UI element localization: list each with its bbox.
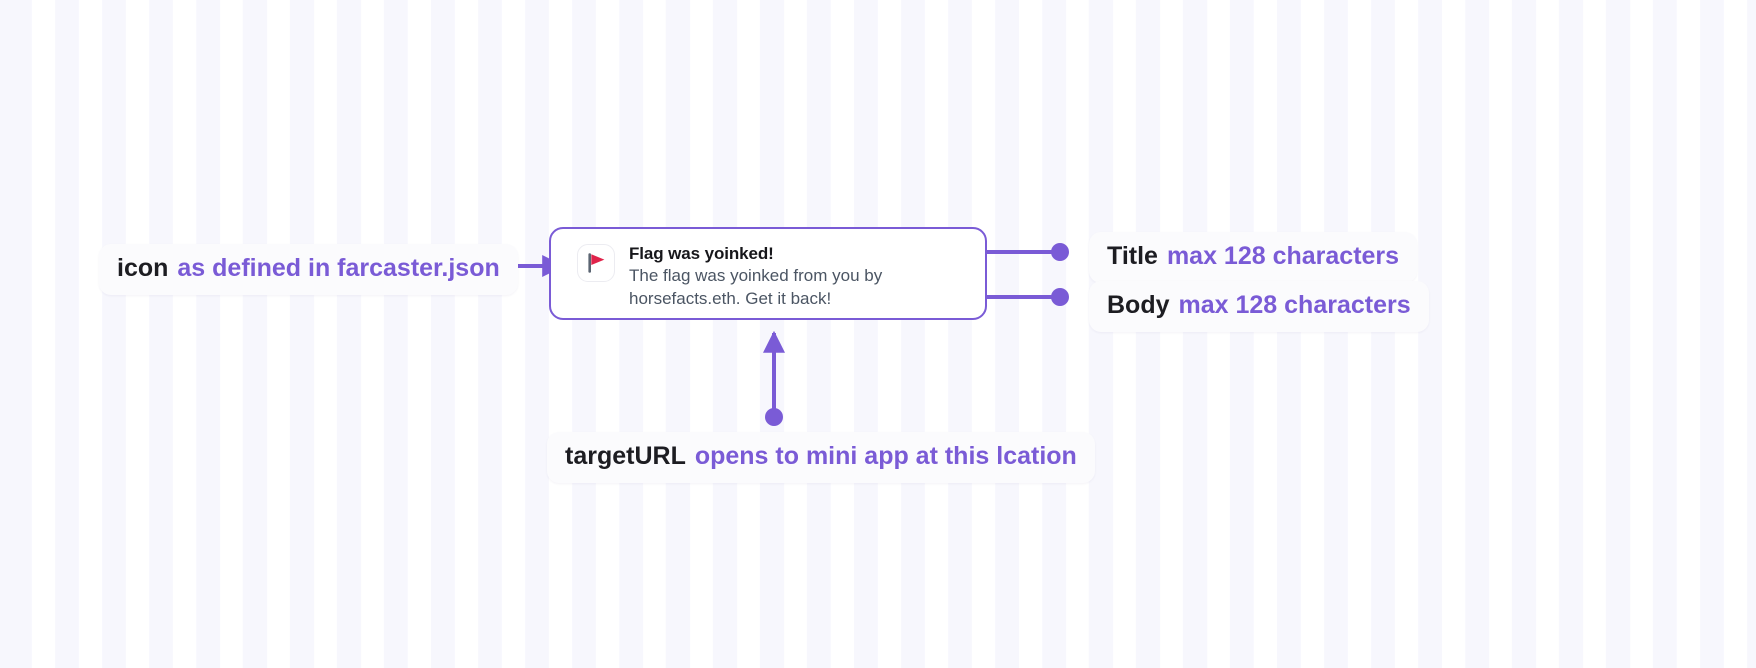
notification-text-block: Flag was yoinked! The flag was yoinked f…	[629, 243, 929, 311]
callout-target-url-value: opens to mini app at this lcation	[695, 442, 1077, 471]
callout-icon-key: icon	[117, 254, 168, 283]
callout-target-url[interactable]: targetURL opens to mini app at this lcat…	[547, 432, 1095, 483]
app-icon-tile	[577, 244, 615, 282]
connector-arrows	[0, 0, 1756, 668]
notification-preview-card[interactable]: Flag was yoinked! The flag was yoinked f…	[549, 227, 987, 320]
callout-body-value: max 128 characters	[1179, 291, 1411, 320]
callout-body-key: Body	[1107, 291, 1170, 320]
callout-body[interactable]: Body max 128 characters	[1089, 281, 1429, 332]
callout-icon[interactable]: icon as defined in farcaster.json	[99, 244, 518, 295]
callout-title[interactable]: Title max 128 characters	[1089, 232, 1417, 283]
notification-title: Flag was yoinked!	[629, 243, 929, 265]
callout-title-value: max 128 characters	[1167, 242, 1399, 271]
triangular-flag-icon	[584, 251, 608, 275]
connector-target-url	[765, 333, 783, 426]
diagram-stage: Flag was yoinked! The flag was yoinked f…	[0, 0, 1756, 668]
notification-body: The flag was yoinked from you by horsefa…	[629, 265, 929, 311]
callout-icon-value: as defined in farcaster.json	[177, 254, 499, 283]
callout-target-url-key: targetURL	[565, 442, 686, 471]
callout-title-key: Title	[1107, 242, 1158, 271]
